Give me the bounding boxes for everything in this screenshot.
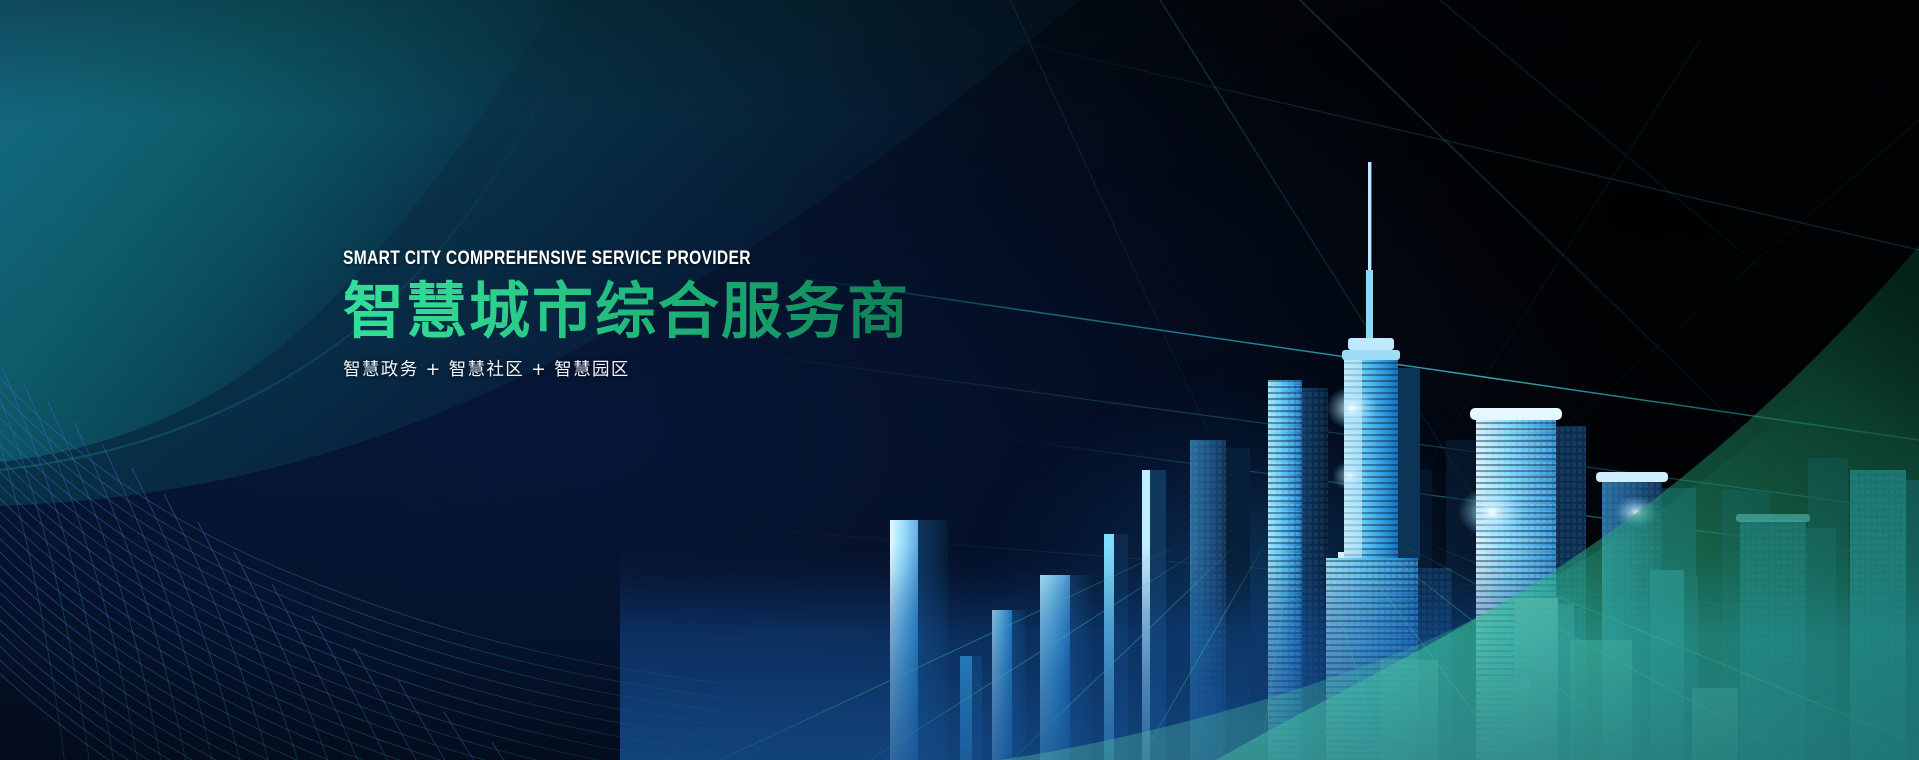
hero-copy-block: SMART CITY COMPREHENSIVE SERVICE PROVIDE… [343, 248, 963, 382]
chinese-subtitle: 智慧政务 + 智慧社区 + 智慧园区 [343, 359, 963, 382]
hero-banner: SMART CITY COMPREHENSIVE SERVICE PROVIDE… [0, 0, 1919, 760]
english-tagline: SMART CITY COMPREHENSIVE SERVICE PROVIDE… [343, 248, 839, 269]
chinese-headline: 智慧城市综合服务商 [343, 279, 963, 345]
